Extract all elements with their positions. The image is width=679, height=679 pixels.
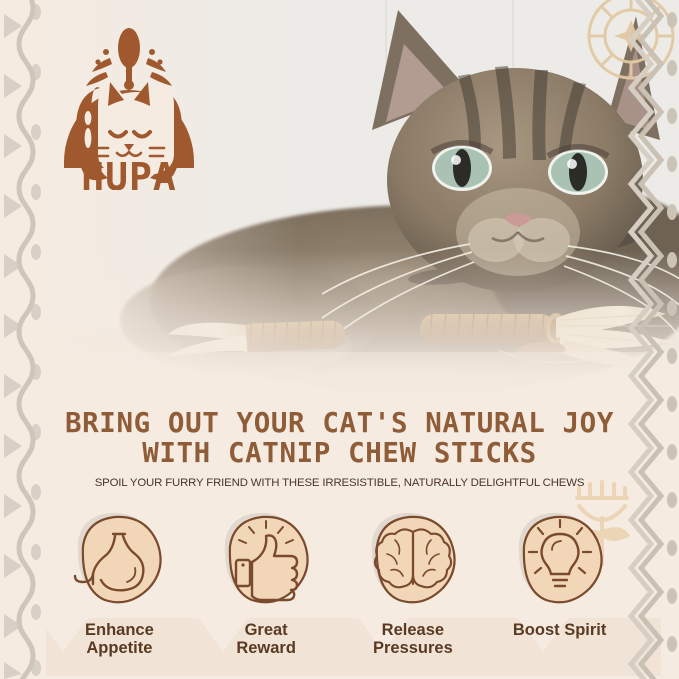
feature-great-reward: Great Reward	[193, 512, 340, 672]
feature-blob	[365, 512, 461, 608]
brand-logo: HUPA	[48, 22, 210, 190]
feature-enhance-appetite: Enhance Appetite	[46, 512, 193, 672]
photo-bottom-fade	[0, 250, 679, 400]
feature-label: Release Pressures	[373, 622, 453, 657]
feature-label: Boost Spirit	[513, 622, 607, 640]
feature-blob	[512, 512, 608, 608]
feature-label: Great Reward	[236, 622, 296, 657]
headline-line-1: BRING OUT YOUR CAT'S NATURAL JOY	[46, 408, 633, 438]
headline-subtitle: SPOIL YOUR FURRY FRIEND WITH THESE IRRES…	[46, 477, 633, 489]
feature-list: Enhance Appetite	[46, 512, 633, 672]
product-infographic: HUPA	[0, 0, 679, 679]
feature-blob	[218, 512, 314, 608]
feature-blob	[71, 512, 167, 608]
feature-release-pressures: Release Pressures	[340, 512, 487, 672]
sun-mandala-icon	[585, 0, 677, 82]
headline-line-2: WITH CATNIP CHEW STICKS	[46, 438, 633, 468]
feature-label: Enhance Appetite	[85, 622, 154, 657]
brand-wordmark: HUPA	[81, 155, 177, 190]
headline-block: BRING OUT YOUR CAT'S NATURAL JOY WITH CA…	[46, 408, 633, 489]
feature-boost-spirit: Boost Spirit	[486, 512, 633, 672]
